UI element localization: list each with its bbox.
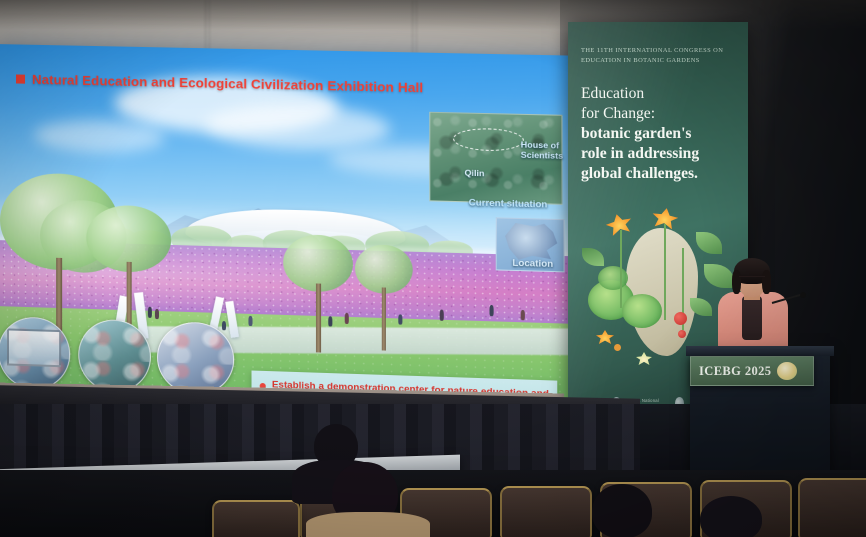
- audience-shoulders: [306, 512, 430, 537]
- person-figure: [148, 307, 152, 318]
- banner-headline-line1: Education: [581, 84, 739, 104]
- person-figure: [328, 316, 332, 326]
- banner-headline: Education for Change: botanic garden's r…: [581, 84, 739, 184]
- audience-chair: [500, 486, 592, 537]
- person-figure: [248, 316, 252, 326]
- person-figure: [489, 305, 493, 316]
- audience-head: [700, 496, 762, 537]
- flower-emblem-icon: [777, 362, 797, 380]
- lily-pad-icon: [598, 266, 628, 290]
- banner-headline-line5: global challenges.: [581, 164, 739, 184]
- audience-chair: [798, 478, 866, 537]
- foreground-tree: [283, 234, 355, 358]
- person-figure: [398, 314, 402, 324]
- person-figure: [440, 310, 444, 321]
- photo-inset-science-exhibition: [0, 316, 70, 390]
- banner-headline-line2: for Change:: [581, 104, 739, 124]
- projection-screen: House of Scientists Qilin Current situat…: [0, 44, 577, 414]
- photo-inset-science-commentary: [78, 319, 151, 394]
- conference-photo: House of Scientists Qilin Current situat…: [0, 0, 866, 537]
- lectern-top: [686, 346, 834, 356]
- podium-area: ICEBG 2025: [690, 258, 840, 488]
- foreground-tree: [86, 204, 173, 337]
- podium-sign-text: ICEBG 2025: [699, 364, 771, 379]
- banner-headline-line3: botanic garden's: [581, 124, 739, 144]
- audience-chair: [212, 500, 300, 537]
- glasses-icon: [739, 276, 765, 282]
- banner-headline-line4: role in addressing: [581, 144, 739, 164]
- audience-head: [592, 484, 652, 537]
- label-qilin: Qilin: [465, 168, 485, 179]
- title-bullet-icon: [16, 74, 25, 83]
- microphone-icon: [800, 292, 806, 298]
- podium-sign: ICEBG 2025: [690, 356, 814, 386]
- label-current-situation: Current situation: [469, 196, 548, 209]
- label-house-of-scientists: House of Scientists: [521, 140, 567, 161]
- foreground-tree: [355, 244, 415, 356]
- lily-flower-icon: [596, 330, 614, 344]
- banner-kicker-text: The 11th International Congress on Educa…: [581, 46, 731, 65]
- label-location: Location: [512, 257, 553, 269]
- presentation-slide: House of Scientists Qilin Current situat…: [0, 44, 577, 414]
- person-figure: [345, 313, 349, 324]
- map-outline: [505, 223, 557, 261]
- lily-pad-icon: [622, 294, 662, 328]
- person-figure: [521, 310, 525, 320]
- person-figure: [155, 309, 159, 319]
- lily-flower-icon: [604, 211, 634, 237]
